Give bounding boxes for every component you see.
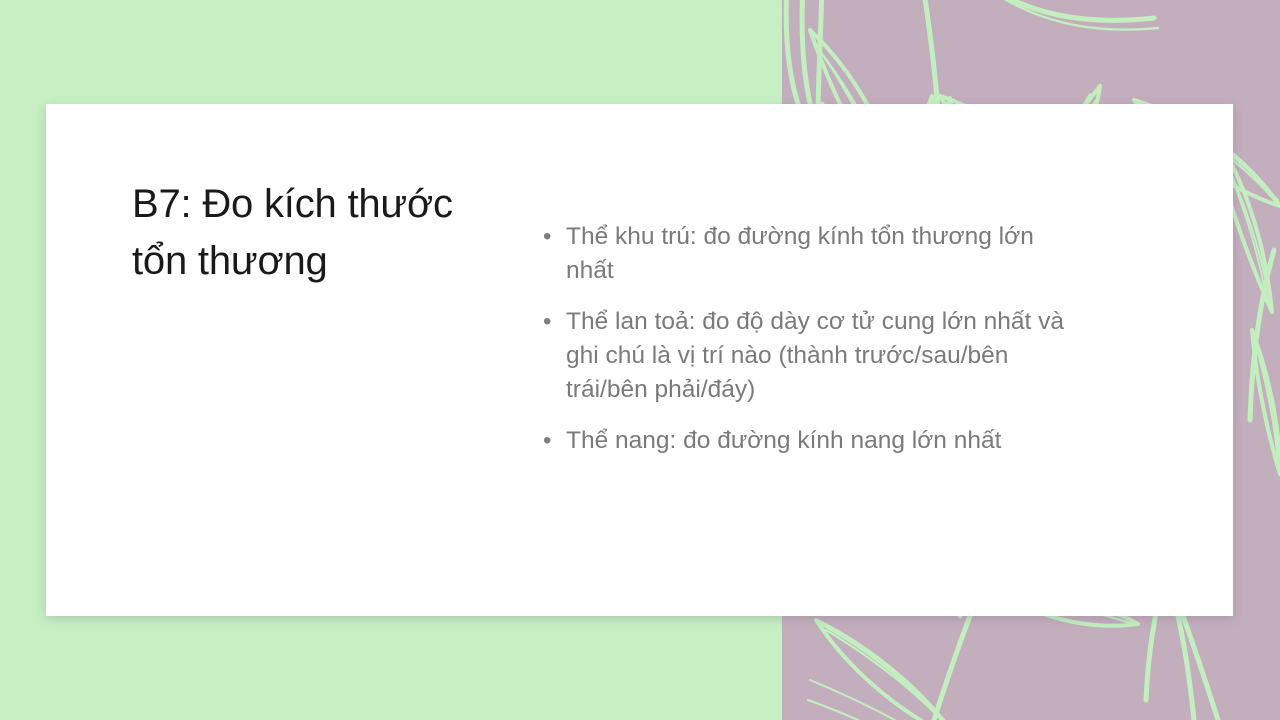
slide-canvas: B7: Đo kích thước tổn thương • Thể khu t…	[0, 0, 1280, 720]
list-item: • Thể nang: đo đường kính nang lớn nhất	[543, 424, 1088, 458]
bullet-list: • Thể khu trú: đo đường kính tổn thương …	[543, 220, 1088, 458]
bullet-marker-icon: •	[543, 220, 566, 254]
bullet-text: Thể lan toả: đo độ dày cơ tử cung lớn nh…	[566, 305, 1088, 407]
bullet-marker-icon: •	[543, 305, 566, 339]
list-item: • Thể lan toả: đo độ dày cơ tử cung lớn …	[543, 305, 1088, 407]
bullet-text: Thể nang: đo đường kính nang lớn nhất	[566, 424, 1088, 458]
bullet-text: Thể khu trú: đo đường kính tổn thương lớ…	[566, 220, 1088, 288]
list-item: • Thể khu trú: đo đường kính tổn thương …	[543, 220, 1088, 288]
content-card: B7: Đo kích thước tổn thương • Thể khu t…	[46, 104, 1233, 616]
slide-title: B7: Đo kích thước tổn thương	[132, 176, 532, 290]
bullet-marker-icon: •	[543, 424, 566, 458]
